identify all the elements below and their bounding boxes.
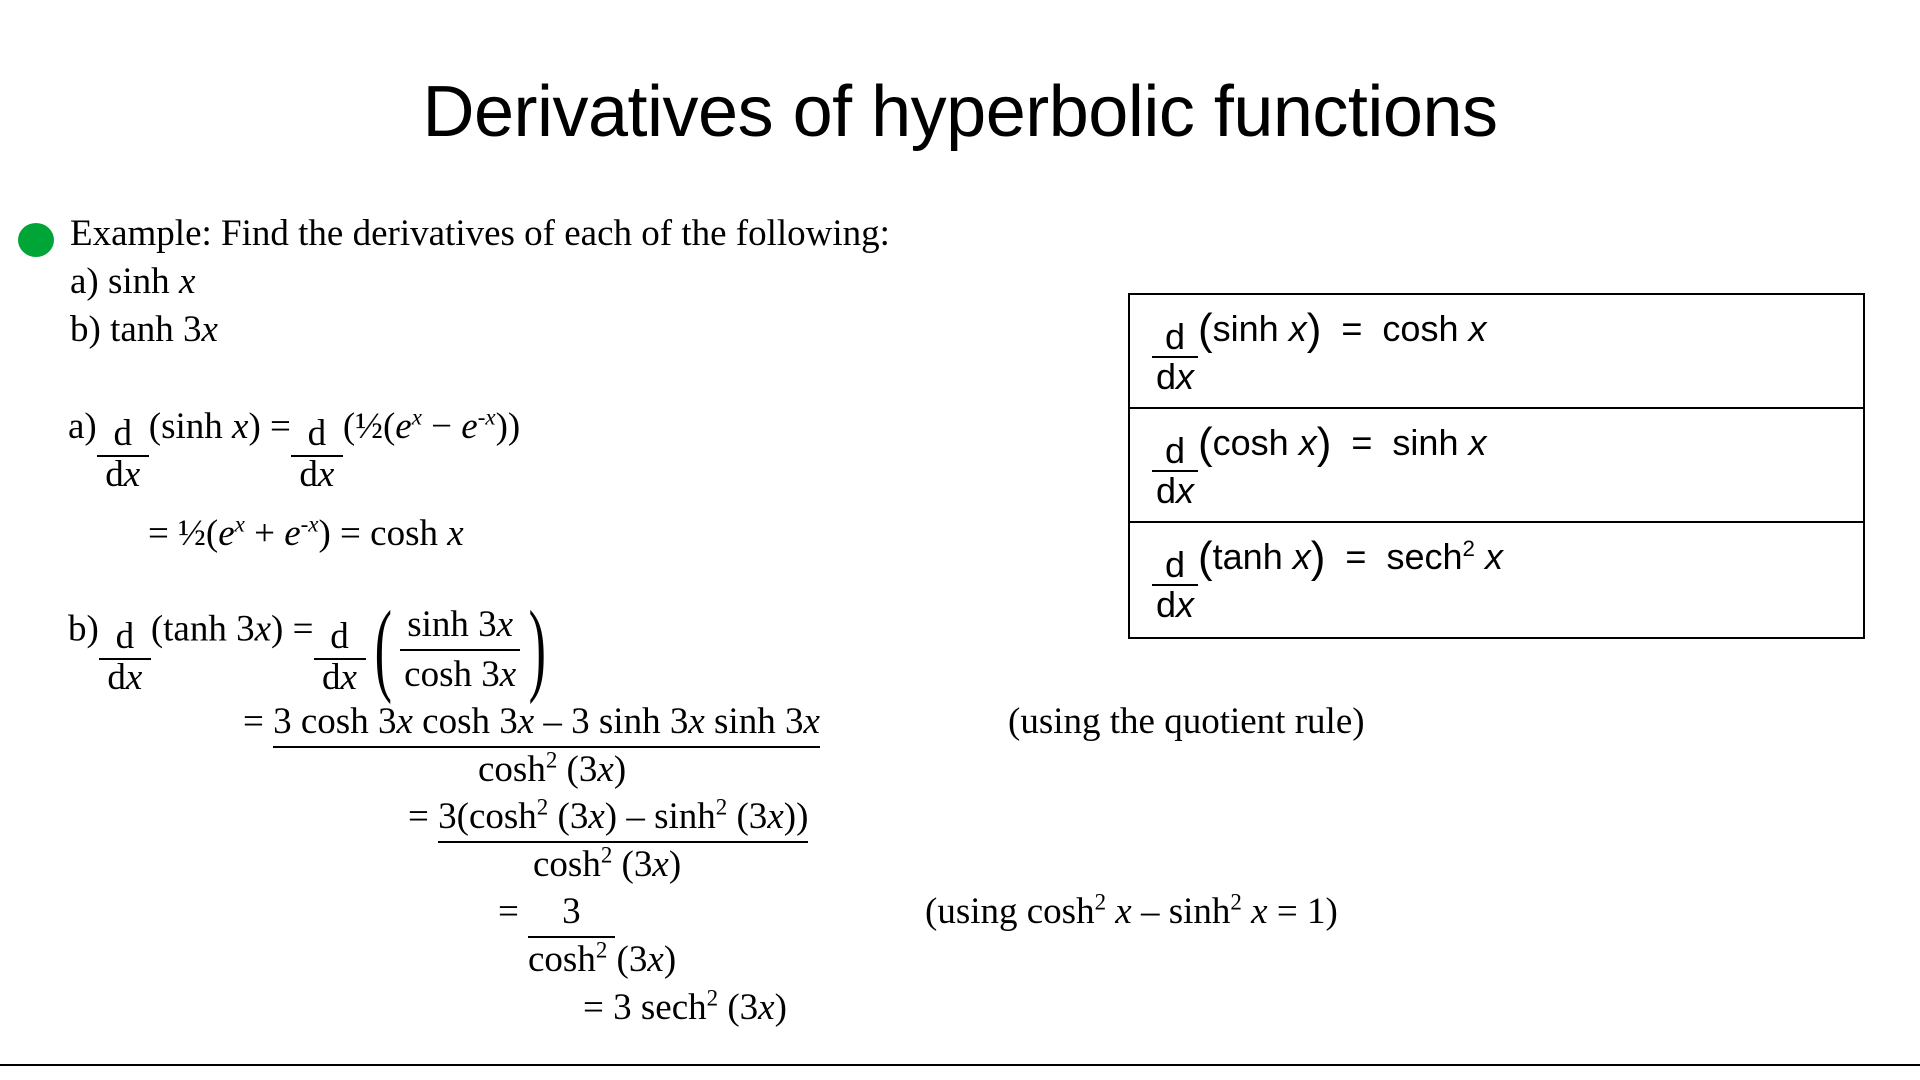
sa2-equals: = ½( <box>148 513 218 554</box>
sa-e1-exponent: x <box>412 405 422 430</box>
sb-lhs-var: x <box>255 608 271 649</box>
sb4-equals: = <box>498 891 519 932</box>
sb-frac-den: cosh 3 <box>404 654 500 695</box>
formula-cosh-func: cosh <box>1213 422 1299 463</box>
sb-lhs-close: ) <box>271 608 283 649</box>
item-a-label: a) sinh <box>70 261 179 302</box>
sa-e1: e <box>395 406 411 447</box>
solution-b-line-5-final: = 3 sech2 (3x) <box>583 986 787 1030</box>
formula-sinh: ddx(sinh x) = cosh x <box>1152 309 1486 358</box>
ddx-operator-3: ddx <box>99 616 151 660</box>
ddx-operator-2: ddx <box>291 413 343 457</box>
sb3-numerator: 3(cosh2 (3x) – sinh2 (3x)) <box>438 795 808 843</box>
sa2-close: ) = cosh <box>318 513 447 554</box>
sa2-e1-exponent: x <box>235 512 245 537</box>
solution-a-line-1: a)ddx(sinh x) =ddx(½(ex − e-x)) <box>68 405 520 457</box>
solution-b-line-3-numerator: = 3(cosh2 (3x) – sinh2 (3x)) <box>408 795 808 843</box>
slide-canvas: Derivatives of hyperbolic functions Exam… <box>0 0 1920 1080</box>
solution-b-line-3-denominator: cosh2 (3x) <box>533 843 681 887</box>
quotient-rule-note: (using the quotient rule) <box>1008 700 1365 744</box>
formula-tanh-result: sech <box>1386 536 1462 577</box>
sb3-equals: = <box>408 796 429 837</box>
identity-note: (using cosh2 x – sinh2 x = 1) <box>925 890 1338 934</box>
sa-equals: = <box>270 406 291 447</box>
solution-b-label: b) <box>68 608 99 649</box>
sb-equals: = <box>293 608 314 649</box>
sa-lhs-arg: (sinh <box>149 406 232 447</box>
solution-b-line-4-numerator: = 3 <box>498 890 615 938</box>
sa2-e1: e <box>218 513 234 554</box>
example-prompt: Example: Find the derivatives of each of… <box>70 210 1118 258</box>
formula-row-tanh: ddx(tanh x) = sech2 x <box>1130 523 1863 637</box>
solution-b-line-2-numerator: = 3 cosh 3x cosh 3x – 3 sinh 3x sinh 3x <box>243 700 820 748</box>
formula-tanh: ddx(tanh x) = sech2 x <box>1152 537 1503 586</box>
sa2-var: x <box>447 513 463 554</box>
formula-sinh-result: cosh <box>1382 308 1468 349</box>
green-circle-bullet-icon <box>18 223 54 257</box>
formula-row-sinh: ddx(sinh x) = cosh x <box>1130 295 1863 409</box>
sa-rhs-close: )) <box>496 406 521 447</box>
sa-minus: − <box>422 406 461 447</box>
slide-bottom-divider <box>0 1064 1920 1066</box>
item-b-label: b) tanh 3 <box>70 309 202 350</box>
ddx-operator-tanh: ddx <box>1152 546 1198 586</box>
example-item-a: a) sinh x <box>70 258 1118 306</box>
sa2-e2: e <box>284 513 300 554</box>
sa-lhs-close: ) <box>248 406 260 447</box>
solution-b-line-4-denominator: cosh2 (3x) <box>528 938 676 982</box>
sa-lhs-var: x <box>232 406 248 447</box>
formula-cosh-result: sinh <box>1392 422 1468 463</box>
formula-row-cosh: ddx(cosh x) = sinh x <box>1130 409 1863 523</box>
sa-rhs-open: (½( <box>343 406 395 447</box>
sb4-numerator: 3 <box>528 890 615 938</box>
ddx-operator-sinh: ddx <box>1152 318 1198 358</box>
example-item-b: b) tanh 3x <box>70 306 1118 354</box>
ddx-operator: ddx <box>97 413 149 457</box>
sb-frac-den-var: x <box>500 654 516 695</box>
solution-a-label: a) <box>68 406 97 447</box>
sb-frac-num-var: x <box>497 604 513 645</box>
sa2-plus: + <box>245 513 284 554</box>
tanh-quotient-fraction: sinh 3xcosh 3x <box>400 603 520 697</box>
sb-frac-num: sinh 3 <box>407 604 496 645</box>
derivative-formula-reference-box: ddx(sinh x) = cosh x ddx(cosh x) = sinh … <box>1128 293 1865 639</box>
formula-tanh-func: tanh <box>1213 536 1293 577</box>
intro-bullet-block: Example: Find the derivatives of each of… <box>18 210 1118 354</box>
ddx-operator-4: ddx <box>314 616 366 660</box>
formula-sinh-func: sinh <box>1213 308 1289 349</box>
sb2-numerator: 3 cosh 3x cosh 3x – 3 sinh 3x sinh 3x <box>273 700 820 748</box>
sb2-equals: = <box>243 701 264 742</box>
page-title: Derivatives of hyperbolic functions <box>0 72 1920 152</box>
solution-b-line-1: b)ddx(tanh 3x) =ddx(sinh 3xcosh 3x) <box>68 585 555 679</box>
solution-a-line-2: = ½(ex + e-x) = cosh x <box>148 512 464 556</box>
formula-cosh: ddx(cosh x) = sinh x <box>1152 423 1486 472</box>
sb-lhs-arg: (tanh 3 <box>151 608 255 649</box>
solution-b-line-2-denominator: cosh2 (3x) <box>478 748 626 792</box>
item-a-variable: x <box>179 261 195 302</box>
sa-e2: e <box>461 406 477 447</box>
ddx-operator-cosh: ddx <box>1152 432 1198 472</box>
sa2-e2-exponent: -x <box>301 512 319 537</box>
sa-e2-exponent: -x <box>478 405 496 430</box>
item-b-variable: x <box>202 309 218 350</box>
